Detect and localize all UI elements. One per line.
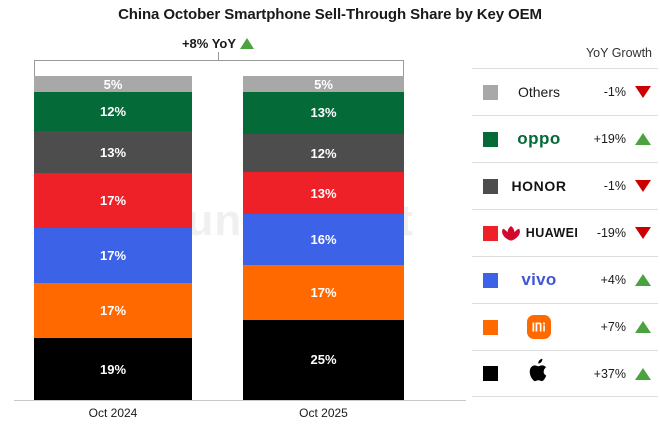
bar-segment-value-label: 13% bbox=[310, 105, 336, 120]
bar-segment-apple[interactable]: 19% bbox=[34, 338, 192, 400]
legend-rows: Others-1%oppo+19%HONOR-1%HUAWEI-19%vivo+… bbox=[472, 68, 658, 397]
legend-row-others[interactable]: Others-1% bbox=[472, 68, 658, 115]
legend-growth-value: +37% bbox=[580, 367, 628, 381]
legend-swatch-others bbox=[483, 85, 498, 100]
stacked-bar-oct-2025[interactable]: 5%13%12%13%16%17%25% bbox=[243, 76, 404, 400]
apple-logo-icon bbox=[527, 357, 551, 390]
legend-brand-oppo: oppo bbox=[498, 116, 580, 162]
plot-area: 5%12%13%17%17%17%19% 5%13%12%13%16%17%25… bbox=[0, 0, 470, 427]
x-tick-label-oct-2024: Oct 2024 bbox=[34, 406, 192, 420]
legend-panel: YoY Growth Others-1%oppo+19%HONOR-1%HUAW… bbox=[472, 44, 658, 397]
legend-arrow-cell bbox=[628, 227, 658, 239]
x-tick-label-oct-2025: Oct 2025 bbox=[243, 406, 404, 420]
legend-brand-huawei: HUAWEI bbox=[498, 210, 580, 256]
bar-segment-value-label: 12% bbox=[100, 104, 126, 119]
bar-segment-xiaomi[interactable]: 17% bbox=[34, 283, 192, 338]
legend-row-honor[interactable]: HONOR-1% bbox=[472, 162, 658, 209]
legend-brand-apple bbox=[498, 351, 580, 396]
bar-segment-value-label: 25% bbox=[310, 352, 336, 367]
bar-segment-value-label: 17% bbox=[310, 285, 336, 300]
honor-logo-icon: HONOR bbox=[511, 178, 566, 194]
legend-brand-vivo: vivo bbox=[498, 257, 580, 303]
legend-growth-value: -1% bbox=[580, 85, 628, 99]
bar-segment-others[interactable]: 5% bbox=[243, 76, 404, 92]
bar-segment-huawei[interactable]: 17% bbox=[34, 173, 192, 228]
legend-arrow-cell bbox=[628, 133, 658, 145]
legend-growth-value: -19% bbox=[580, 226, 628, 240]
legend-growth-value: +4% bbox=[580, 273, 628, 287]
legend-swatch-honor bbox=[483, 179, 498, 194]
xiaomi-logo-icon bbox=[527, 315, 551, 339]
bar-segment-vivo[interactable]: 16% bbox=[243, 214, 404, 265]
legend-swatch-xiaomi bbox=[483, 320, 498, 335]
legend-swatch-apple bbox=[483, 366, 498, 381]
bar-segment-honor[interactable]: 13% bbox=[34, 131, 192, 173]
bar-segment-value-label: 17% bbox=[100, 303, 126, 318]
triangle-down-icon bbox=[635, 180, 651, 192]
huawei-wordmark: HUAWEI bbox=[526, 226, 578, 240]
bar-segment-value-label: 13% bbox=[100, 145, 126, 160]
legend-arrow-cell bbox=[628, 321, 658, 333]
legend-growth-value: +19% bbox=[580, 132, 628, 146]
vivo-logo-icon: vivo bbox=[521, 270, 556, 290]
bar-segment-value-label: 17% bbox=[100, 193, 126, 208]
bar-segment-value-label: 17% bbox=[100, 248, 126, 263]
legend-row-apple[interactable]: +37% bbox=[472, 350, 658, 397]
bar-segment-vivo[interactable]: 17% bbox=[34, 228, 192, 283]
bar-segment-xiaomi[interactable]: 17% bbox=[243, 265, 404, 320]
bar-segment-value-label: 19% bbox=[100, 362, 126, 377]
bar-segment-oppo[interactable]: 12% bbox=[34, 92, 192, 131]
triangle-down-icon bbox=[635, 227, 651, 239]
bar-segment-value-label: 5% bbox=[314, 77, 333, 92]
legend-swatch-vivo bbox=[483, 273, 498, 288]
bar-segment-value-label: 13% bbox=[310, 186, 336, 201]
legend-growth-value: -1% bbox=[580, 179, 628, 193]
triangle-up-icon bbox=[635, 133, 651, 145]
legend-brand-xiaomi bbox=[498, 304, 580, 350]
triangle-up-icon bbox=[635, 368, 651, 380]
bar-segment-value-label: 16% bbox=[310, 232, 336, 247]
legend-brand-label: Others bbox=[518, 84, 560, 100]
legend-row-huawei[interactable]: HUAWEI-19% bbox=[472, 209, 658, 256]
bar-segment-huawei[interactable]: 13% bbox=[243, 172, 404, 214]
bar-segment-value-label: 5% bbox=[104, 77, 123, 92]
oppo-logo-icon: oppo bbox=[517, 129, 561, 149]
chart-root: China October Smartphone Sell-Through Sh… bbox=[0, 0, 660, 427]
bar-segment-apple[interactable]: 25% bbox=[243, 320, 404, 400]
triangle-up-icon bbox=[635, 274, 651, 286]
bar-segment-oppo[interactable]: 13% bbox=[243, 92, 404, 134]
bar-segment-honor[interactable]: 12% bbox=[243, 134, 404, 173]
huawei-logo-icon: HUAWEI bbox=[500, 224, 578, 242]
legend-arrow-cell bbox=[628, 368, 658, 380]
legend-swatch-huawei bbox=[483, 226, 498, 241]
legend-brand-honor: HONOR bbox=[498, 163, 580, 209]
legend-row-xiaomi[interactable]: +7% bbox=[472, 303, 658, 350]
legend-arrow-cell bbox=[628, 274, 658, 286]
legend-swatch-oppo bbox=[483, 132, 498, 147]
x-axis-line bbox=[14, 400, 466, 401]
legend-arrow-cell bbox=[628, 86, 658, 98]
stacked-bar-oct-2024[interactable]: 5%12%13%17%17%17%19% bbox=[34, 76, 192, 400]
legend-row-oppo[interactable]: oppo+19% bbox=[472, 115, 658, 162]
triangle-down-icon bbox=[635, 86, 651, 98]
legend-header: YoY Growth bbox=[472, 44, 658, 68]
legend-growth-value: +7% bbox=[580, 320, 628, 334]
triangle-up-icon bbox=[635, 321, 651, 333]
legend-brand-others: Others bbox=[498, 69, 580, 115]
bar-segment-others[interactable]: 5% bbox=[34, 76, 192, 92]
legend-arrow-cell bbox=[628, 180, 658, 192]
bar-segment-value-label: 12% bbox=[310, 146, 336, 161]
legend-row-vivo[interactable]: vivo+4% bbox=[472, 256, 658, 303]
